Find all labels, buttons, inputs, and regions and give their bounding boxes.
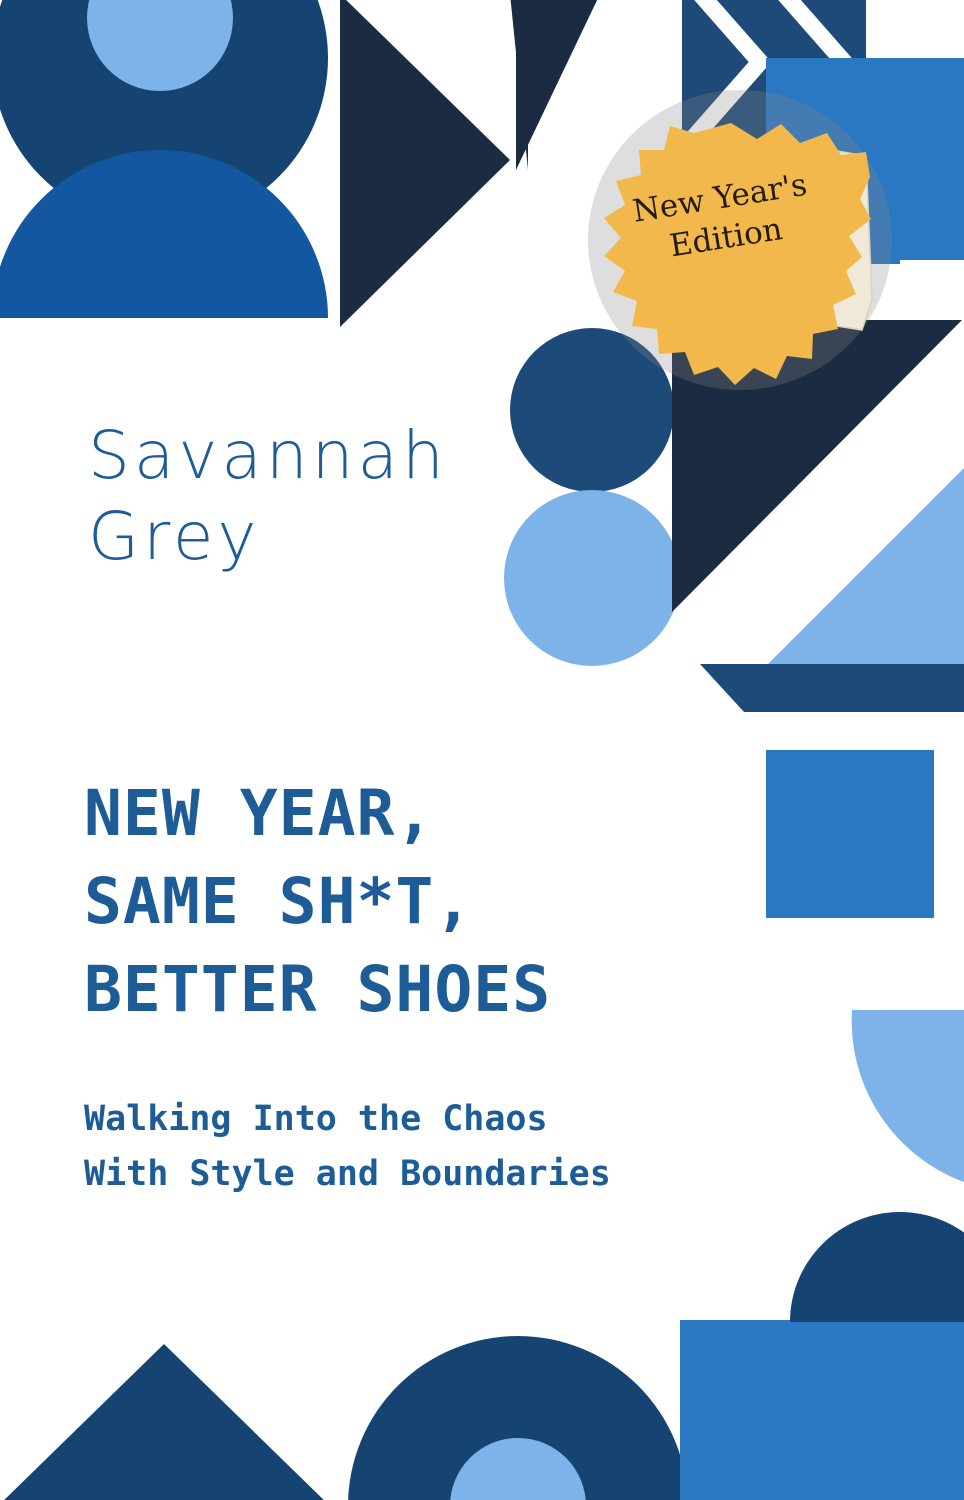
book-cover: Savannah Grey NEW YEAR, SAME SH*T, BETTE… (0, 0, 964, 1500)
new-year-edition-badge (588, 90, 892, 390)
bottom-right-blue-square-front (680, 1322, 964, 1500)
navy-parallelogram-bar (700, 664, 964, 712)
mid-light-circle (504, 490, 680, 666)
medium-blue-square-mid (766, 750, 934, 918)
cover-artwork (0, 0, 964, 1500)
